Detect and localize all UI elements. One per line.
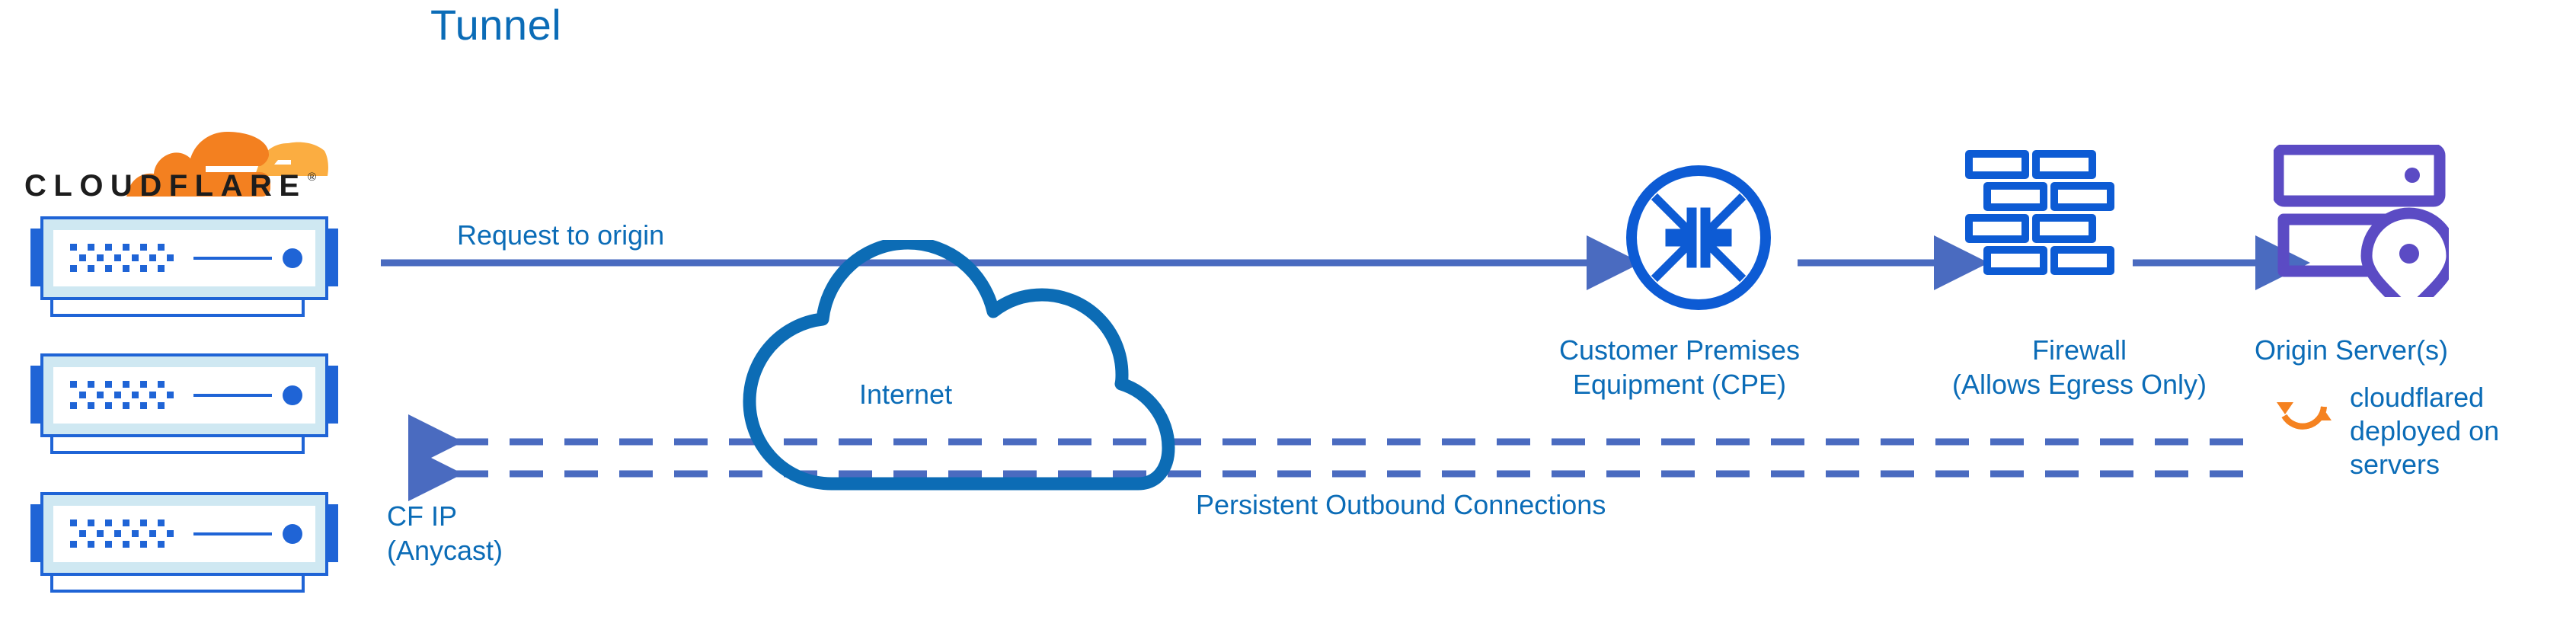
persistent-outbound-connections-label: Persistent Outbound Connections — [1196, 488, 1606, 522]
server-location-pin-icon[interactable] — [2274, 145, 2449, 297]
sync-arrows-icon — [2274, 381, 2335, 442]
cf-ip-label-line2: (Anycast) — [387, 533, 638, 567]
cpe-label-line2: Equipment (CPE) — [1512, 367, 1847, 401]
cloud-icon — [716, 240, 1188, 491]
cpe-label: Customer Premises Equipment (CPE) — [1512, 333, 1847, 401]
cloudflared-label: cloudflared deployed on servers — [2350, 381, 2533, 481]
cpe-label-line1: Customer Premises — [1512, 333, 1847, 367]
firewall-label-line2: (Allows Egress Only) — [1927, 367, 2232, 401]
internet-label: Internet — [859, 377, 952, 411]
firewall-label: Firewall (Allows Egress Only) — [1927, 333, 2232, 401]
four-arrows-circle-icon[interactable] — [1622, 161, 1775, 314]
tunnel-architecture-diagram: Tunnel CLOUDFLARE ® — [0, 0, 2576, 617]
cf-ip-anycast-label: CF IP (Anycast) — [387, 499, 638, 567]
brick-wall-icon[interactable] — [1964, 149, 2116, 282]
firewall-label-line1: Firewall — [1927, 333, 2232, 367]
origin-server-label: Origin Server(s) — [2255, 333, 2574, 367]
request-to-origin-label: Request to origin — [457, 218, 664, 252]
cf-ip-label-line1: CF IP — [387, 499, 638, 533]
